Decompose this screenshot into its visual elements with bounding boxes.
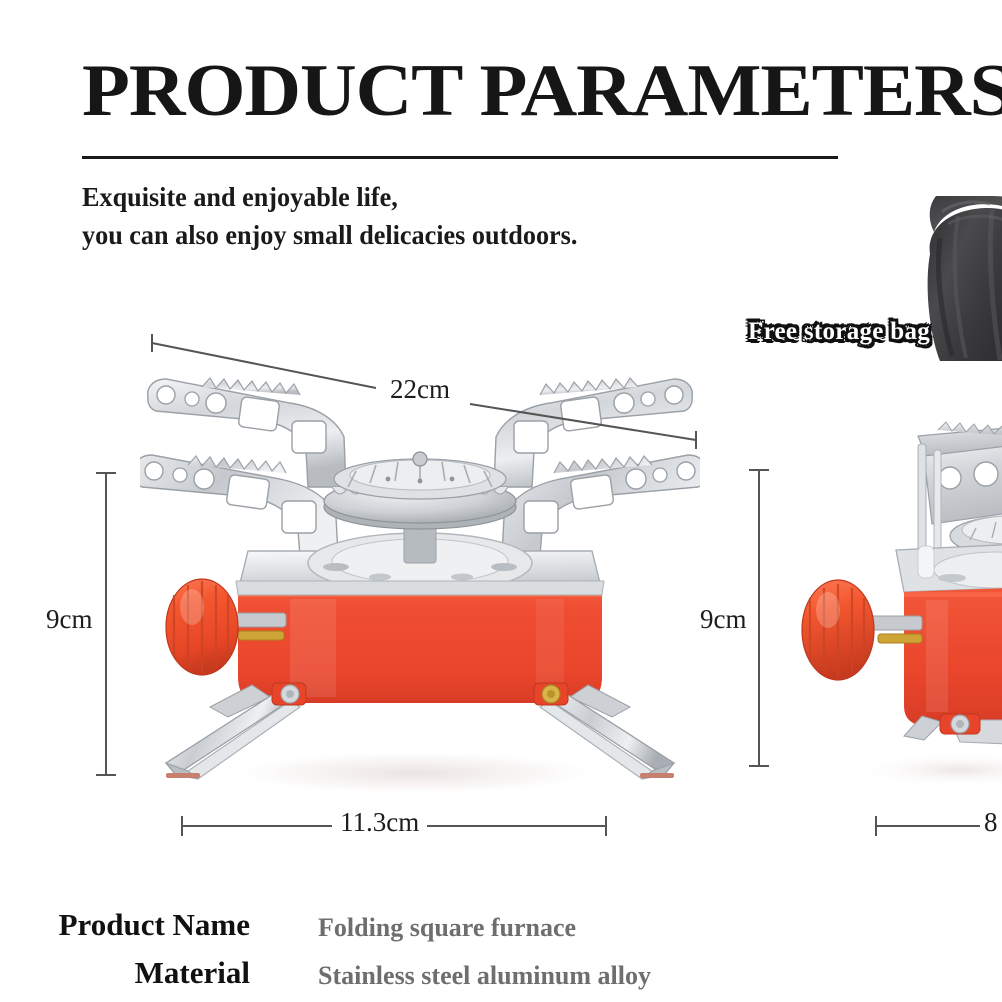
dimension-11-3cm-tick-right — [605, 816, 607, 836]
dimension-9cm-left-line — [105, 473, 107, 775]
dimension-9cm-left-label: 9cm — [46, 604, 93, 635]
product-parameters-infographic: PRODUCT PARAMETERS Exquisite and enjoyab… — [0, 0, 1002, 1002]
page-title: PRODUCT PARAMETERS — [82, 52, 1002, 130]
dimension-9cm-right-line — [758, 470, 760, 766]
dimension-width-right-line — [876, 825, 986, 827]
dimension-11-3cm-tick-left — [181, 816, 183, 836]
subtitle-line-1: Exquisite and enjoyable life, — [82, 182, 398, 212]
camping-stove-side-photo — [800, 420, 1002, 790]
subtitle-text: Exquisite and enjoyable life, you can al… — [82, 178, 577, 254]
dimension-width-right-tick-left — [875, 816, 877, 836]
dimension-width-right-label: 8 — [980, 807, 1002, 838]
header-divider — [82, 156, 838, 159]
dimension-11-3cm-label: 11.3cm — [332, 807, 427, 838]
stove-top-panel-side — [896, 542, 1002, 592]
spec-value-product-name: Folding square furnace — [318, 913, 576, 943]
stove-orange-body-side — [904, 586, 1002, 726]
subtitle-line-2: you can also enjoy small delicacies outd… — [82, 220, 577, 250]
dimension-22cm: 22cm — [140, 330, 720, 450]
dimension-9cm-left-tick-top — [96, 472, 116, 474]
free-storage-bag-label: Free storage bag — [748, 318, 930, 346]
dimension-9cm-left-tick-bottom — [96, 774, 116, 776]
dimension-9cm-right-tick-top — [749, 469, 769, 471]
spec-value-material: Stainless steel aluminum alloy — [318, 961, 651, 991]
dimension-9cm-right-tick-bottom — [749, 765, 769, 767]
dimension-22cm-label: 22cm — [384, 374, 456, 405]
dimension-9cm-right-label: 9cm — [700, 604, 747, 635]
spec-label-product-name: Product Name — [0, 907, 250, 943]
spec-label-material: Material — [0, 955, 250, 991]
